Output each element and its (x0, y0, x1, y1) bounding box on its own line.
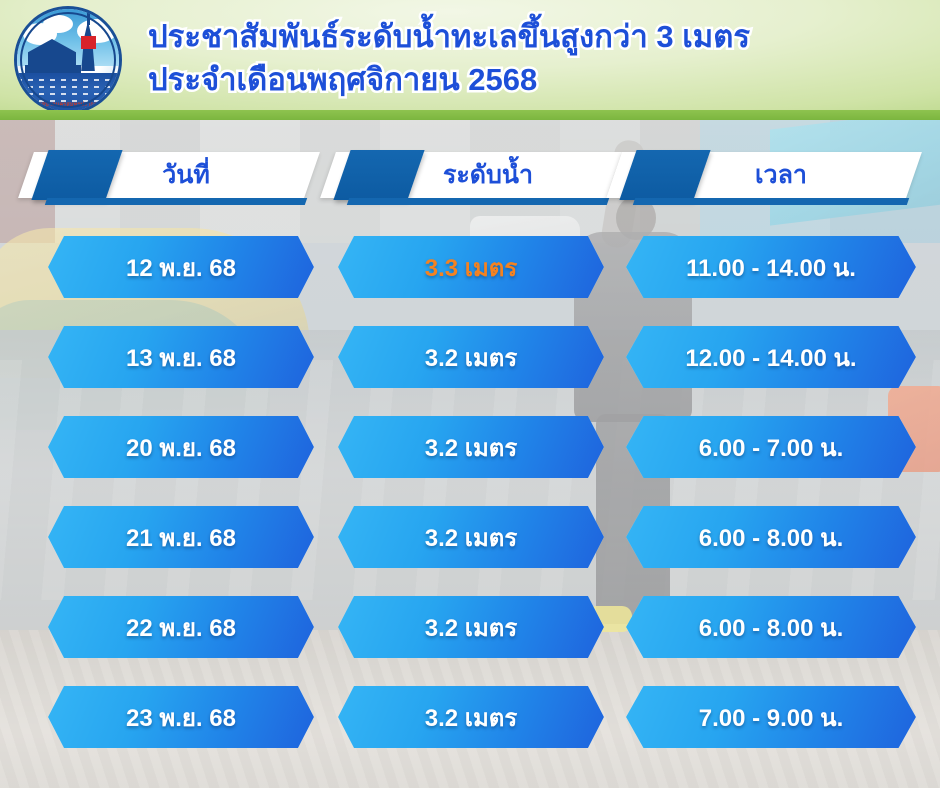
cell-time: 6.00 - 8.00 น. (626, 596, 916, 658)
cell-water-level-text: 3.2 เมตร (425, 608, 518, 647)
seal-pagoda-accent (81, 36, 96, 49)
column-header-label: เวลา (614, 152, 914, 198)
cell-date: 23 พ.ย. 68 (48, 686, 314, 748)
cell-water-level: 3.3 เมตร (338, 236, 604, 298)
table-row: 21 พ.ย. 68 3.2 เมตร 6.00 - 8.00 น. (0, 506, 940, 596)
municipal-seal-icon: เทศบาลนครสมุทรปราการ (14, 6, 122, 114)
cell-date: 20 พ.ย. 68 (48, 416, 314, 478)
header-bottom-edge (0, 110, 940, 120)
cell-date: 22 พ.ย. 68 (48, 596, 314, 658)
column-header-date: วันที่ (26, 152, 312, 212)
column-header-underline (633, 198, 909, 205)
seal-spire-icon (87, 11, 90, 25)
poster-header: เทศบาลนครสมุทรปราการ ประชาสัมพันธ์ระดับน… (0, 0, 940, 118)
cell-time: 7.00 - 9.00 น. (626, 686, 916, 748)
seal-wave (17, 86, 119, 88)
cell-date: 21 พ.ย. 68 (48, 506, 314, 568)
cell-water-level: 3.2 เมตร (338, 326, 604, 388)
cell-water-level-text: 3.2 เมตร (425, 698, 518, 737)
cell-time: 12.00 - 14.00 น. (626, 326, 916, 388)
column-header-time: เวลา (614, 152, 914, 212)
cell-water-level-text: 3.3 เมตร (425, 248, 518, 287)
cell-water-level-text: 3.2 เมตร (425, 518, 518, 557)
table-body: 12 พ.ย. 68 3.3 เมตร 11.00 - 14.00 น. 13 … (0, 236, 940, 776)
cell-water-level-text: 3.2 เมตร (425, 428, 518, 467)
table-header-row: วันที่ ระดับน้ำ เวลา (0, 152, 940, 216)
cell-time-text: 11.00 - 14.00 น. (686, 248, 856, 287)
cell-date-text: 23 พ.ย. 68 (126, 698, 236, 737)
cell-water-level-text: 3.2 เมตร (425, 338, 518, 377)
cell-time-text: 12.00 - 14.00 น. (685, 338, 856, 377)
column-header-underline (45, 198, 307, 205)
cell-water-level: 3.2 เมตร (338, 686, 604, 748)
cell-time: 11.00 - 14.00 น. (626, 236, 916, 298)
page-title-line-1: ประชาสัมพันธ์ระดับน้ำทะเลขึ้นสูงกว่า 3 เ… (148, 16, 918, 59)
poster-title-block: ประชาสัมพันธ์ระดับน้ำทะเลขึ้นสูงกว่า 3 เ… (148, 16, 918, 102)
column-header-water-level: ระดับน้ำ (328, 152, 614, 212)
column-header-label: ระดับน้ำ (328, 152, 614, 198)
cell-time: 6.00 - 8.00 น. (626, 506, 916, 568)
seal-cloud (43, 15, 73, 33)
cell-water-level: 3.2 เมตร (338, 596, 604, 658)
seal-wave (17, 79, 119, 81)
cell-water-level: 3.2 เมตร (338, 506, 604, 568)
column-header-underline (347, 198, 609, 205)
seal-motto-text: เทศบาลนครสมุทรปราการ (17, 101, 119, 109)
cell-time: 6.00 - 7.00 น. (626, 416, 916, 478)
cell-date-text: 22 พ.ย. 68 (126, 608, 236, 647)
cell-time-text: 6.00 - 8.00 น. (699, 608, 844, 647)
table-row: 13 พ.ย. 68 3.2 เมตร 12.00 - 14.00 น. (0, 326, 940, 416)
cell-date-text: 12 พ.ย. 68 (126, 248, 236, 287)
cell-date-text: 20 พ.ย. 68 (126, 428, 236, 467)
cell-date-text: 13 พ.ย. 68 (126, 338, 236, 377)
table-row: 22 พ.ย. 68 3.2 เมตร 6.00 - 8.00 น. (0, 596, 940, 686)
table-row: 20 พ.ย. 68 3.2 เมตร 6.00 - 7.00 น. (0, 416, 940, 506)
cell-date-text: 21 พ.ย. 68 (126, 518, 236, 557)
cell-date: 13 พ.ย. 68 (48, 326, 314, 388)
cell-time-text: 6.00 - 7.00 น. (699, 428, 844, 467)
cell-time-text: 7.00 - 9.00 น. (699, 698, 844, 737)
cell-water-level: 3.2 เมตร (338, 416, 604, 478)
seal-wave (17, 93, 119, 95)
table-row: 23 พ.ย. 68 3.2 เมตร 7.00 - 9.00 น. (0, 686, 940, 776)
column-header-label: วันที่ (26, 152, 312, 198)
table-row: 12 พ.ย. 68 3.3 เมตร 11.00 - 14.00 น. (0, 236, 940, 326)
cell-time-text: 6.00 - 8.00 น. (699, 518, 844, 557)
page-title-line-2: ประจำเดือนพฤศจิกายน 2568 (148, 59, 918, 102)
tide-announcement-poster: เทศบาลนครสมุทรปราการ ประชาสัมพันธ์ระดับน… (0, 0, 940, 788)
cell-date: 12 พ.ย. 68 (48, 236, 314, 298)
